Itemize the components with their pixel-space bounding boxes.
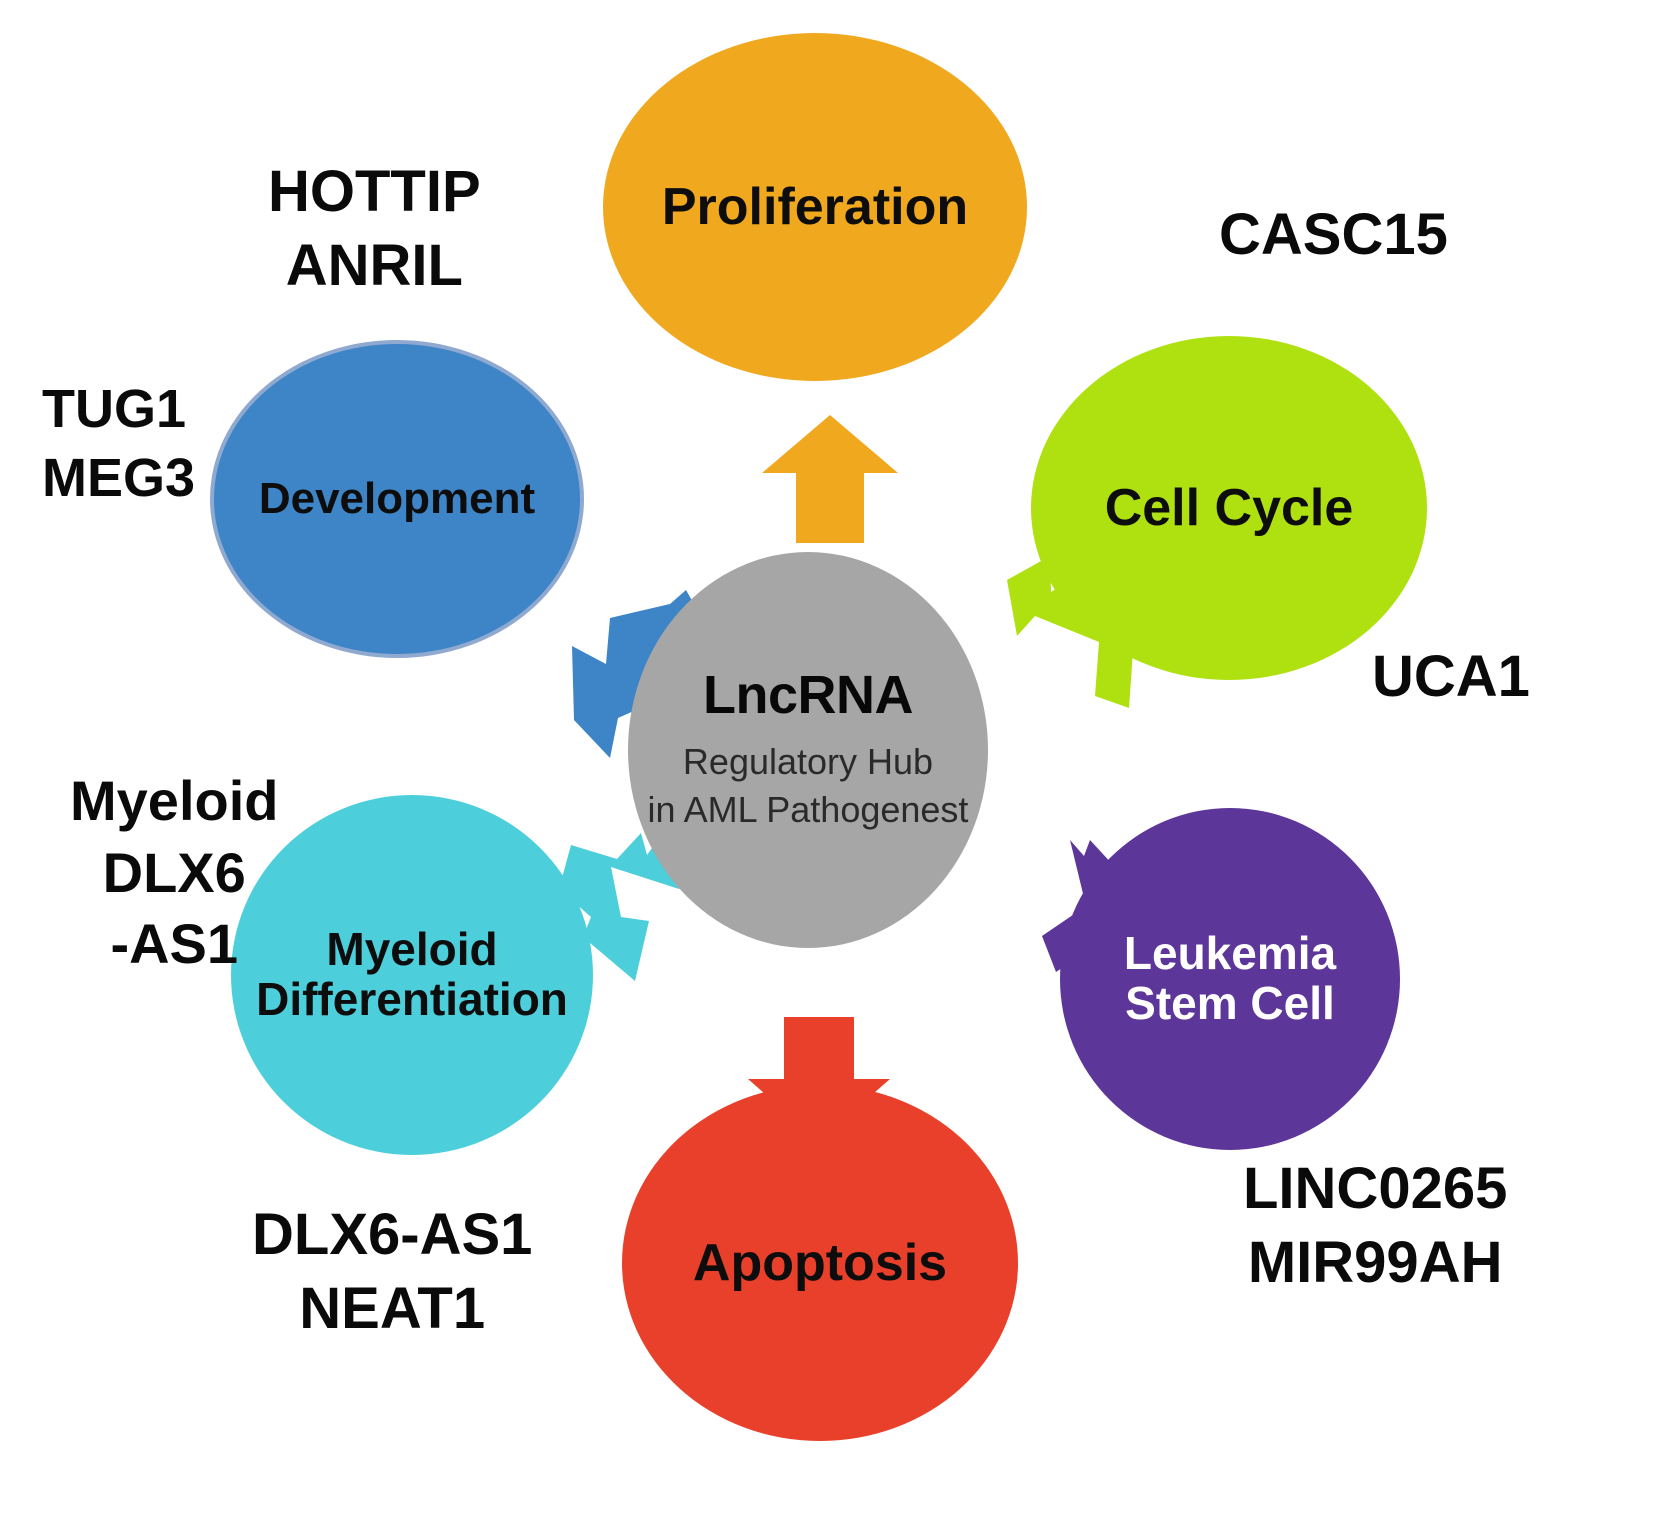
node-myeloid-differentiation[interactable]: Myeloid Differentiation xyxy=(231,795,593,1155)
node-proliferation[interactable]: Proliferation xyxy=(603,33,1027,381)
node-development-label: Development xyxy=(214,475,580,523)
node-proliferation-label: Proliferation xyxy=(603,179,1027,235)
diagram-canvas: Proliferation Cell Cycle Leukemia Stem C… xyxy=(0,0,1672,1536)
gene-label-casc15: CASC15 xyxy=(1219,198,1448,272)
hub-subtitle-line-1: Regulatory Hub xyxy=(683,738,933,786)
gene-label-myeloid-dlx6-as1: Myeloid DLX6 -AS1 xyxy=(70,765,278,980)
hub-subtitle-line-2: in AML Pathogenest xyxy=(648,786,969,834)
gene-label-dlx6-as1-neat1: DLX6-AS1 NEAT1 xyxy=(252,1198,532,1346)
node-cell-cycle[interactable]: Cell Cycle xyxy=(1031,336,1427,680)
gene-label-uca1: UCA1 xyxy=(1372,640,1530,714)
gene-label-tug1-meg3: TUG1 MEG3 xyxy=(42,375,195,513)
node-myeloid-differentiation-label: Myeloid Differentiation xyxy=(231,925,593,1024)
gene-label-linc0265-mir99ah: LINC0265 MIR99AH xyxy=(1243,1152,1507,1300)
arrow-proliferation xyxy=(760,415,900,545)
node-leukemia-stem-cell[interactable]: Leukemia Stem Cell xyxy=(1060,808,1400,1150)
node-cell-cycle-label: Cell Cycle xyxy=(1031,480,1427,536)
node-lncrna-hub[interactable]: LncRNA Regulatory Hub in AML Pathogenest xyxy=(628,552,988,948)
node-apoptosis[interactable]: Apoptosis xyxy=(622,1085,1018,1441)
gene-label-hottip-anril: HOTTIP ANRIL xyxy=(268,155,481,303)
node-apoptosis-label: Apoptosis xyxy=(622,1235,1018,1291)
node-leukemia-stem-cell-label: Leukemia Stem Cell xyxy=(1060,929,1400,1028)
hub-title: LncRNA xyxy=(703,666,913,724)
node-development[interactable]: Development xyxy=(210,340,584,658)
